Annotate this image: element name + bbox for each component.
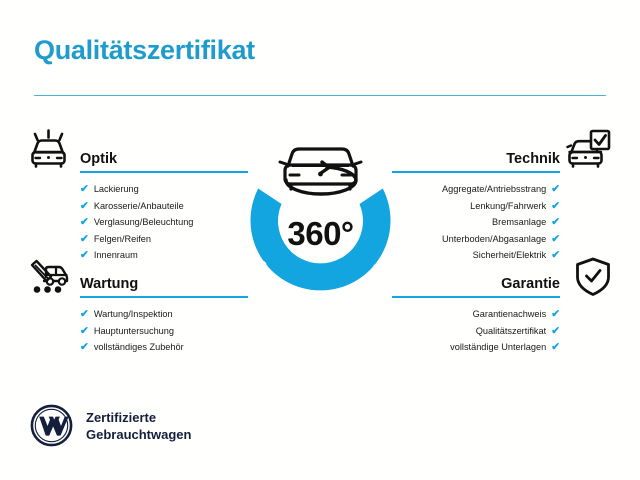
- check-icon: ✔: [80, 309, 89, 320]
- car-shine-icon: [26, 128, 72, 175]
- list-item: ✔Verglasung/Beleuchtung: [80, 214, 248, 231]
- list-item: Lenkung/Fahrwerk✔: [392, 198, 560, 215]
- page-title: Qualitätszertifikat: [34, 35, 255, 66]
- check-icon: ✔: [80, 250, 89, 261]
- certificate-page: Qualitätszertifikat: [0, 0, 640, 480]
- list-item: Garantienachweis✔: [392, 306, 560, 323]
- list-item-label: Bremsanlage: [492, 214, 546, 231]
- list-item: Unterboden/Abgasanlage✔: [392, 231, 560, 248]
- shield-check-icon: [573, 256, 613, 303]
- section-optik-list: ✔Lackierung ✔Karosserie/Anbauteile ✔Verg…: [80, 181, 248, 264]
- list-item: ✔vollständiges Zubehör: [80, 339, 248, 356]
- list-item-label: Innenraum: [94, 247, 138, 264]
- check-icon: ✔: [80, 201, 89, 212]
- vw-logo-icon: [30, 404, 73, 447]
- list-item-label: Lackierung: [94, 181, 139, 198]
- badge-360-gebrauchtwagen-check: Gebrauchtwagen-Check 360°: [228, 118, 413, 313]
- section-garantie-header: Garantie: [392, 268, 560, 294]
- list-item-label: Verglasung/Beleuchtung: [94, 214, 194, 231]
- list-item: ✔Innenraum: [80, 247, 248, 264]
- check-icon: ✔: [551, 326, 560, 337]
- section-technik-title: Technik: [506, 151, 560, 167]
- list-item: ✔Felgen/Reifen: [80, 231, 248, 248]
- section-wartung: Wartung ✔Wartung/Inspektion ✔Hauptunters…: [80, 268, 248, 356]
- car-wrench-icon: [26, 256, 72, 303]
- footer-brand: Zertifizierte Gebrauchtwagen: [30, 404, 191, 447]
- list-item: Aggregate/Antriebsstrang✔: [392, 181, 560, 198]
- check-icon: ✔: [551, 309, 560, 320]
- list-item-label: Qualitätszertifikat: [476, 323, 546, 340]
- check-icon: ✔: [551, 184, 560, 195]
- section-optik: Optik ✔Lackierung ✔Karosserie/Anbauteile…: [80, 143, 248, 264]
- section-garantie: Garantie Garantienachweis✔ Qualitätszert…: [392, 268, 560, 356]
- list-item-label: Wartung/Inspektion: [94, 306, 173, 323]
- list-item: ✔Wartung/Inspektion: [80, 306, 248, 323]
- list-item: ✔Lackierung: [80, 181, 248, 198]
- check-icon: ✔: [551, 217, 560, 228]
- section-technik-divider: [392, 171, 560, 173]
- check-icon: ✔: [551, 342, 560, 353]
- check-icon: ✔: [551, 250, 560, 261]
- badge-svg: Gebrauchtwagen-Check: [228, 118, 413, 313]
- check-icon: ✔: [80, 326, 89, 337]
- list-item-label: Lenkung/Fahrwerk: [470, 198, 546, 215]
- list-item-label: Aggregate/Antriebsstrang: [442, 181, 546, 198]
- list-item-label: Hauptuntersuchung: [94, 323, 174, 340]
- footer-brand-text: Zertifizierte Gebrauchtwagen: [86, 409, 191, 443]
- section-optik-divider: [80, 171, 248, 173]
- section-technik: Technik Aggregate/Antriebsstrang✔ Lenkun…: [392, 143, 560, 264]
- list-item-label: Sicherheit/Elektrik: [473, 247, 547, 264]
- check-icon: ✔: [551, 201, 560, 212]
- section-garantie-title: Garantie: [501, 276, 560, 292]
- list-item: ✔Karosserie/Anbauteile: [80, 198, 248, 215]
- list-item-label: vollständige Unterlagen: [450, 339, 546, 356]
- list-item-label: vollständiges Zubehör: [94, 339, 184, 356]
- check-icon: ✔: [80, 234, 89, 245]
- car-checkbox-icon: [566, 128, 612, 175]
- list-item-label: Unterboden/Abgasanlage: [442, 231, 546, 248]
- title-divider: [34, 95, 606, 96]
- check-icon: ✔: [80, 217, 89, 228]
- footer-line-2: Gebrauchtwagen: [86, 426, 191, 443]
- section-wartung-header: Wartung: [80, 268, 248, 294]
- car-rotate-icon: [280, 149, 361, 194]
- list-item: vollständige Unterlagen✔: [392, 339, 560, 356]
- list-item-label: Garantienachweis: [473, 306, 547, 323]
- list-item-label: Karosserie/Anbauteile: [94, 198, 184, 215]
- section-technik-header: Technik: [392, 143, 560, 169]
- footer-line-1: Zertifizierte: [86, 409, 191, 426]
- section-optik-title: Optik: [80, 151, 117, 167]
- section-technik-list: Aggregate/Antriebsstrang✔ Lenkung/Fahrwe…: [392, 181, 560, 264]
- section-wartung-title: Wartung: [80, 276, 138, 292]
- section-wartung-divider: [80, 296, 248, 298]
- section-garantie-divider: [392, 296, 560, 298]
- list-item-label: Felgen/Reifen: [94, 231, 151, 248]
- list-item: Qualitätszertifikat✔: [392, 323, 560, 340]
- section-garantie-list: Garantienachweis✔ Qualitätszertifikat✔ v…: [392, 306, 560, 356]
- check-icon: ✔: [551, 234, 560, 245]
- list-item: Sicherheit/Elektrik✔: [392, 247, 560, 264]
- check-icon: ✔: [80, 342, 89, 353]
- list-item: ✔Hauptuntersuchung: [80, 323, 248, 340]
- list-item: Bremsanlage✔: [392, 214, 560, 231]
- section-wartung-list: ✔Wartung/Inspektion ✔Hauptuntersuchung ✔…: [80, 306, 248, 356]
- check-icon: ✔: [80, 184, 89, 195]
- section-optik-header: Optik: [80, 143, 248, 169]
